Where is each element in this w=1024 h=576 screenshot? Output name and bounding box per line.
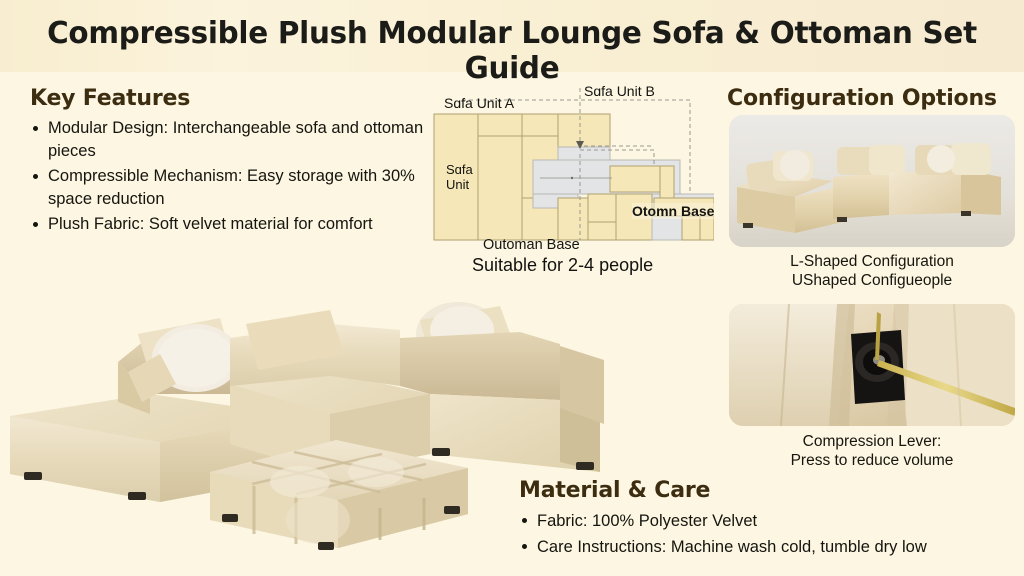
diagram-label-ottoman-inner: Otomn Base bbox=[632, 203, 714, 219]
compression-lever-caption-line2: Press to reduce volume bbox=[729, 451, 1015, 470]
compression-lever-caption: Compression Lever: Press to reduce volum… bbox=[729, 432, 1015, 470]
l-shaped-caption-line2: UShaped Configueople bbox=[729, 271, 1015, 290]
diagram-label-sofa-unit-line1: Sɑfa bbox=[446, 162, 473, 177]
material-care-list: Fabric: 100% Polyester Velvet Care Instr… bbox=[519, 509, 1019, 561]
diagram-label-sofa-unit-line2: Unit bbox=[446, 177, 473, 192]
compression-lever-photo bbox=[729, 304, 1015, 426]
list-item: Care Instructions: Machine wash cold, tu… bbox=[519, 535, 1019, 559]
diagram-label-sofa-unit-a: Sɑfa Unit A bbox=[444, 95, 514, 111]
material-care-heading: Material & Care bbox=[519, 478, 710, 503]
configuration-options-heading: Configuration Options bbox=[727, 86, 997, 111]
l-shaped-caption-line1: L-Shaped Configuration bbox=[729, 252, 1015, 271]
diagram-label-sofa-unit-b: Sɑfa Unit B bbox=[584, 83, 655, 99]
list-item: Fabric: 100% Polyester Velvet bbox=[519, 509, 1019, 533]
page-title: Compressible Plush Modular Lounge Sofa &… bbox=[18, 16, 1006, 86]
key-features-heading: Key Features bbox=[30, 86, 190, 111]
key-features-list: Modular Design: Interchangeable sofa and… bbox=[30, 117, 428, 238]
diagram-label-ottoman-base: Outoman Base bbox=[483, 237, 580, 253]
compression-lever-caption-line1: Compression Lever: bbox=[729, 432, 1015, 451]
l-shaped-caption: L-Shaped Configuration UShaped Configueo… bbox=[729, 252, 1015, 290]
diagram-label-capacity: Suitable for 2-4 people bbox=[472, 255, 653, 276]
list-item: Compressible Mechanism: Easy storage wit… bbox=[30, 165, 428, 211]
list-item: Plush Fabric: Soft velvet material for c… bbox=[30, 213, 428, 236]
l-shaped-sofa-photo bbox=[729, 115, 1015, 247]
diagram-label-sofa-unit: Sɑfa Unit bbox=[446, 162, 473, 192]
list-item: Modular Design: Interchangeable sofa and… bbox=[30, 117, 428, 163]
